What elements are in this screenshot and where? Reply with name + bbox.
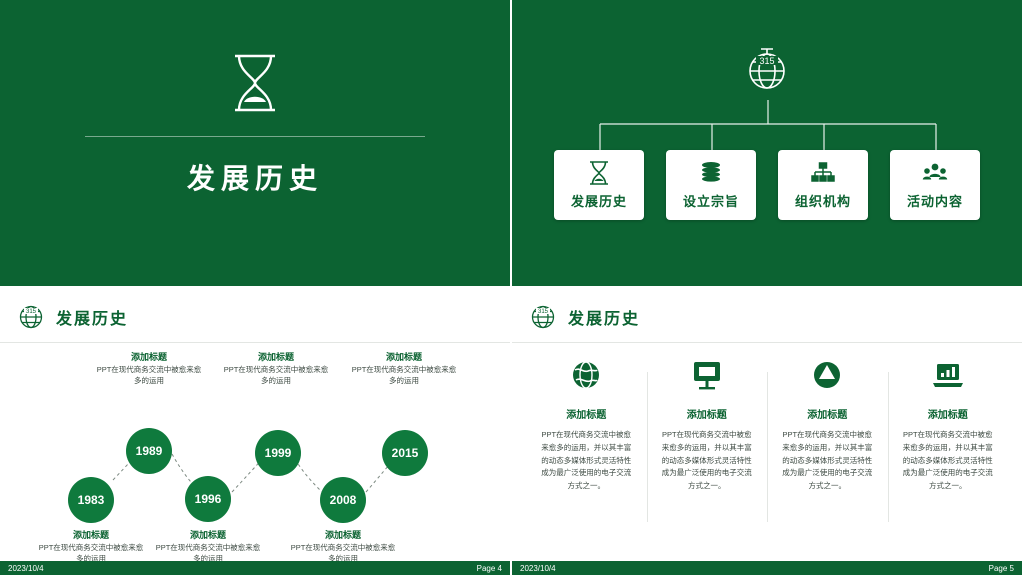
svg-text:315: 315 — [26, 309, 37, 315]
node-year: 1999 — [265, 446, 292, 460]
hourglass-icon — [586, 160, 612, 186]
column-desc: PPT在现代商务交流中被愈来愈多的运用，并以其丰富的动态多媒体形式灵活特性成为最… — [781, 429, 874, 493]
column-title: 添加标题 — [687, 406, 727, 421]
slide-3-timeline: 315 发展历史 1983 1989 1996 — [0, 288, 512, 577]
people-group-icon — [922, 160, 948, 186]
caption-title: 添加标题 — [154, 528, 262, 541]
caption-title: 添加标题 — [95, 350, 203, 363]
slide-3-title: 发展历史 — [56, 305, 128, 329]
footer-page: Page 4 — [477, 564, 502, 573]
timeline-caption-top-3: 添加标题 PPT在现代商务交流中被愈来愈多的运用 — [350, 350, 458, 387]
slide-4-footer: 2023/10/4 Page 5 — [512, 561, 1022, 575]
timeline-caption-bottom-2: 添加标题 PPT在现代商务交流中被愈来愈多的运用 — [154, 528, 262, 565]
layers-icon — [698, 160, 724, 186]
caption-desc: PPT在现代商务交流中被愈来愈多的运用 — [222, 365, 330, 387]
caption-desc: PPT在现代商务交流中被愈来愈多的运用 — [95, 365, 203, 387]
slide-1-content: 发展历史 — [0, 52, 510, 197]
card-activities[interactable]: 活动内容 — [890, 150, 980, 220]
footer-page: Page 5 — [989, 564, 1014, 573]
timeline-node-1999[interactable]: 1999 — [255, 430, 301, 476]
caption-desc: PPT在现代商务交流中被愈来愈多的运用 — [350, 365, 458, 387]
slide-3-header: 315 发展历史 — [16, 302, 128, 332]
page-title: 发展历史 — [187, 157, 323, 197]
slide-1-title: 发展历史 — [0, 0, 512, 288]
overview-card-row: 发展历史 设立宗旨 — [512, 150, 1022, 220]
node-year: 1983 — [78, 493, 105, 507]
315-shield-logo-icon: 315 — [16, 302, 46, 332]
column-title: 添加标题 — [807, 406, 847, 421]
caption-title: 添加标题 — [289, 528, 397, 541]
header-divider — [512, 342, 1022, 343]
node-year: 2008 — [330, 493, 357, 507]
card-label: 组织机构 — [795, 191, 851, 210]
projector-screen-icon — [690, 358, 724, 392]
column-desc: PPT在现代商务交流中被愈来愈多的运用，并以其丰富的动态多媒体形式灵活特性成为最… — [540, 429, 633, 493]
feature-column-2: 添加标题 PPT在现代商务交流中被愈来愈多的运用，并以其丰富的动态多媒体形式灵活… — [647, 358, 768, 493]
column-title: 添加标题 — [566, 406, 606, 421]
card-label: 活动内容 — [907, 191, 963, 210]
feature-column-3: 添加标题 PPT在现代商务交流中被愈来愈多的运用，并以其丰富的动态多媒体形式灵活… — [767, 358, 888, 493]
laptop-chart-icon — [931, 358, 965, 392]
timeline-node-1983[interactable]: 1983 — [68, 477, 114, 523]
slide-deck: 发展历史 315 — [0, 0, 1024, 577]
card-organization[interactable]: 组织机构 — [778, 150, 868, 220]
slide-4-columns: 315 发展历史 添加标题 PPT在现代商务交流中被愈来愈多的运用，并以其丰富的… — [512, 288, 1024, 577]
card-history[interactable]: 发展历史 — [554, 150, 644, 220]
feature-column-1: 添加标题 PPT在现代商务交流中被愈来愈多的运用，并以其丰富的动态多媒体形式灵活… — [526, 358, 647, 493]
slide-3-footer: 2023/10/4 Page 4 — [0, 561, 510, 575]
timeline-caption-bottom-1: 添加标题 PPT在现代商务交流中被愈来愈多的运用 — [37, 528, 145, 565]
timeline-caption-top-2: 添加标题 PPT在现代商务交流中被愈来愈多的运用 — [222, 350, 330, 387]
globe-icon — [569, 358, 603, 392]
caption-title: 添加标题 — [222, 350, 330, 363]
timeline-node-1996[interactable]: 1996 — [185, 476, 231, 522]
node-year: 1989 — [136, 444, 163, 458]
svg-text:315: 315 — [538, 309, 549, 315]
315-shield-logo-icon: 315 — [528, 302, 558, 332]
timeline-caption-top-1: 添加标题 PPT在现代商务交流中被愈来愈多的运用 — [95, 350, 203, 387]
card-label: 设立宗旨 — [683, 191, 739, 210]
caption-title: 添加标题 — [37, 528, 145, 541]
column-desc: PPT在现代商务交流中被愈来愈多的运用，并以其丰富的动态多媒体形式灵活特性成为最… — [902, 429, 995, 493]
column-desc: PPT在现代商务交流中被愈来愈多的运用，并以其丰富的动态多媒体形式灵活特性成为最… — [661, 429, 754, 493]
feature-columns: 添加标题 PPT在现代商务交流中被愈来愈多的运用，并以其丰富的动态多媒体形式灵活… — [526, 358, 1008, 493]
node-year: 2015 — [392, 446, 419, 460]
footer-date: 2023/10/4 — [520, 564, 556, 573]
slide-2-overview: 315 发展历史 — [512, 0, 1024, 288]
timeline-node-2015[interactable]: 2015 — [382, 430, 428, 476]
slide-4-title: 发展历史 — [568, 305, 640, 329]
card-label: 发展历史 — [571, 191, 627, 210]
drive-triangle-icon — [810, 358, 844, 392]
slide-4-header: 315 发展历史 — [528, 302, 640, 332]
timeline-area: 1983 1989 1996 1999 2008 2015 添加标题 PPT在现… — [0, 342, 510, 563]
connector-lines — [512, 0, 1024, 288]
feature-column-4: 添加标题 PPT在现代商务交流中被愈来愈多的运用，并以其丰富的动态多媒体形式灵活… — [888, 358, 1009, 493]
timeline-caption-bottom-3: 添加标题 PPT在现代商务交流中被愈来愈多的运用 — [289, 528, 397, 565]
title-divider — [85, 136, 425, 137]
timeline-node-2008[interactable]: 2008 — [320, 477, 366, 523]
column-title: 添加标题 — [928, 406, 968, 421]
node-year: 1996 — [195, 492, 222, 506]
footer-date: 2023/10/4 — [8, 564, 44, 573]
card-purpose[interactable]: 设立宗旨 — [666, 150, 756, 220]
hourglass-icon — [227, 52, 283, 114]
timeline-node-1989[interactable]: 1989 — [126, 428, 172, 474]
caption-title: 添加标题 — [350, 350, 458, 363]
org-chart-icon — [810, 160, 836, 186]
